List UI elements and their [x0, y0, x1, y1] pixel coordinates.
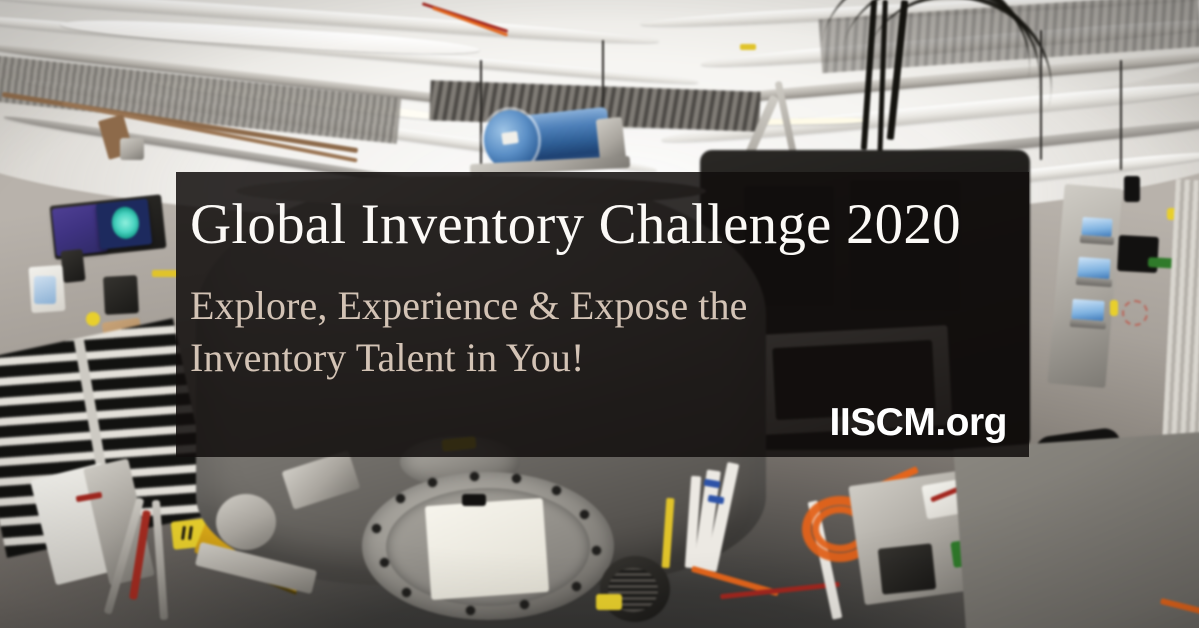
flange-bolt [396, 494, 405, 503]
flange-bolt [428, 478, 437, 487]
wall-junction-box [120, 138, 144, 160]
equipment-panel [103, 275, 139, 315]
yellow-tag [152, 270, 178, 277]
flange-bolt [372, 524, 381, 533]
wall-target-marker [1122, 300, 1148, 326]
motor-label [596, 594, 622, 610]
text-overlay-panel: Global Inventory Challenge 2020 Explore,… [176, 172, 1029, 457]
flange-bolt [580, 510, 589, 519]
chamber-sensor [462, 494, 486, 506]
ceiling-speaker [1124, 176, 1140, 202]
banner-subtitle: Explore, Experience & Expose the Invento… [190, 280, 747, 384]
yellow-handle [1110, 300, 1118, 316]
hanging-wire [1120, 60, 1122, 170]
flange-bolt [520, 600, 529, 609]
flange-bolt [470, 472, 479, 481]
flange-bolt [466, 606, 475, 615]
cylinder-label [501, 131, 519, 145]
banner-title: Global Inventory Challenge 2020 [190, 196, 961, 253]
laptop-screen-top [1081, 217, 1112, 237]
hanging-wire [1040, 30, 1042, 160]
wall-display [34, 276, 56, 304]
flange-bolt [512, 474, 521, 483]
flange-bolt [572, 582, 581, 591]
flange-bolt [552, 486, 561, 495]
yellow-tag [740, 44, 756, 50]
monitor-right-screen [96, 198, 153, 249]
chamber-paper-note [425, 498, 549, 600]
laptop-screen-bottom [1071, 299, 1104, 321]
banner-image: Global Inventory Challenge 2020 Explore,… [0, 0, 1199, 628]
flange-bolt [592, 546, 601, 555]
hanging-wire [480, 60, 482, 180]
flange-bolt [380, 558, 389, 567]
circuit-board [878, 543, 937, 594]
banner-subtitle-line-2: Inventory Talent in You! [190, 332, 747, 384]
flange-bolt [402, 588, 411, 597]
yellow-knob [86, 312, 100, 326]
website-label[interactable]: IISCM.org [830, 401, 1008, 445]
banner-subtitle-line-1: Explore, Experience & Expose the [190, 280, 747, 332]
laptop-screen-middle [1077, 257, 1110, 279]
monitor-stand [60, 249, 85, 283]
chamber-side-flange [216, 494, 276, 550]
